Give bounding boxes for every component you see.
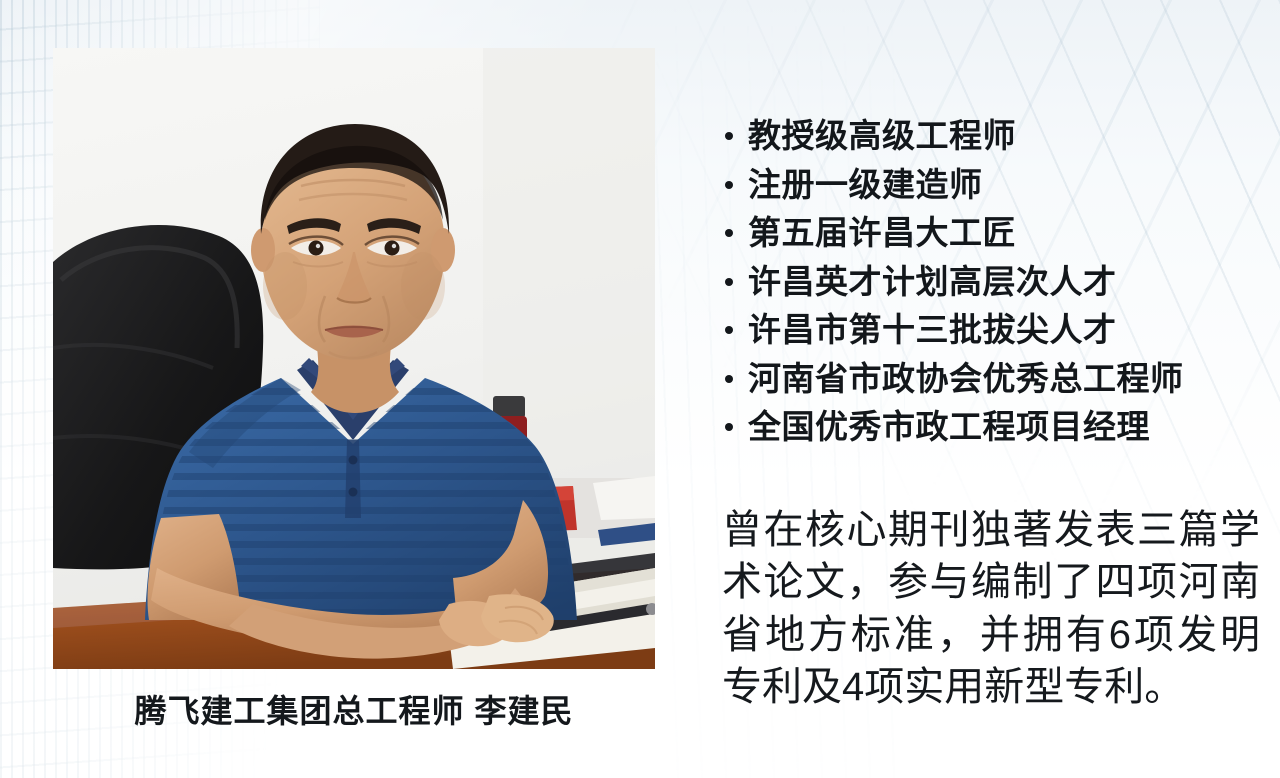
profile-slide: 腾飞建工集团总工程师 李建民 教授级高级工程师 注册一级建造师 第五届许昌大工匠… <box>0 0 1280 778</box>
credential-item-6: 河南省市政协会优秀总工程师 <box>722 355 1262 404</box>
bullet-icon <box>725 132 733 140</box>
credential-label: 注册一级建造师 <box>748 166 983 203</box>
bullet-icon <box>725 423 733 431</box>
portrait-photo <box>53 48 655 669</box>
bullet-icon <box>725 278 733 286</box>
bullet-icon <box>725 181 733 189</box>
credential-label: 教授级高级工程师 <box>748 117 1016 154</box>
credential-label: 许昌市第十三批拔尖人才 <box>748 311 1117 348</box>
credential-item-3: 第五届许昌大工匠 <box>722 209 1262 258</box>
bullet-icon <box>725 375 733 383</box>
credential-label: 河南省市政协会优秀总工程师 <box>748 360 1184 397</box>
credential-label: 许昌英才计划高层次人才 <box>748 263 1117 300</box>
photo-caption: 腾飞建工集团总工程师 李建民 <box>53 686 655 732</box>
credential-item-2: 注册一级建造师 <box>722 161 1262 210</box>
credential-label: 第五届许昌大工匠 <box>748 214 1016 251</box>
credential-item-4: 许昌英才计划高层次人才 <box>722 258 1262 307</box>
credential-item-5: 许昌市第十三批拔尖人才 <box>722 306 1262 355</box>
credential-item-1: 教授级高级工程师 <box>722 112 1262 161</box>
bullet-icon <box>725 229 733 237</box>
portrait-illustration <box>53 48 655 669</box>
credentials-list: 教授级高级工程师 注册一级建造师 第五届许昌大工匠 许昌英才计划高层次人才 许昌… <box>722 112 1262 452</box>
bullet-icon <box>725 326 733 334</box>
credential-label: 全国优秀市政工程项目经理 <box>748 408 1150 445</box>
content-column: 教授级高级工程师 注册一级建造师 第五届许昌大工匠 许昌英才计划高层次人才 许昌… <box>722 112 1262 714</box>
credential-item-7: 全国优秀市政工程项目经理 <box>722 403 1262 452</box>
summary-paragraph: 曾在核心期刊独著发表三篇学术论文，参与编制了四项河南省地方标准，并拥有6项发明专… <box>722 504 1260 714</box>
